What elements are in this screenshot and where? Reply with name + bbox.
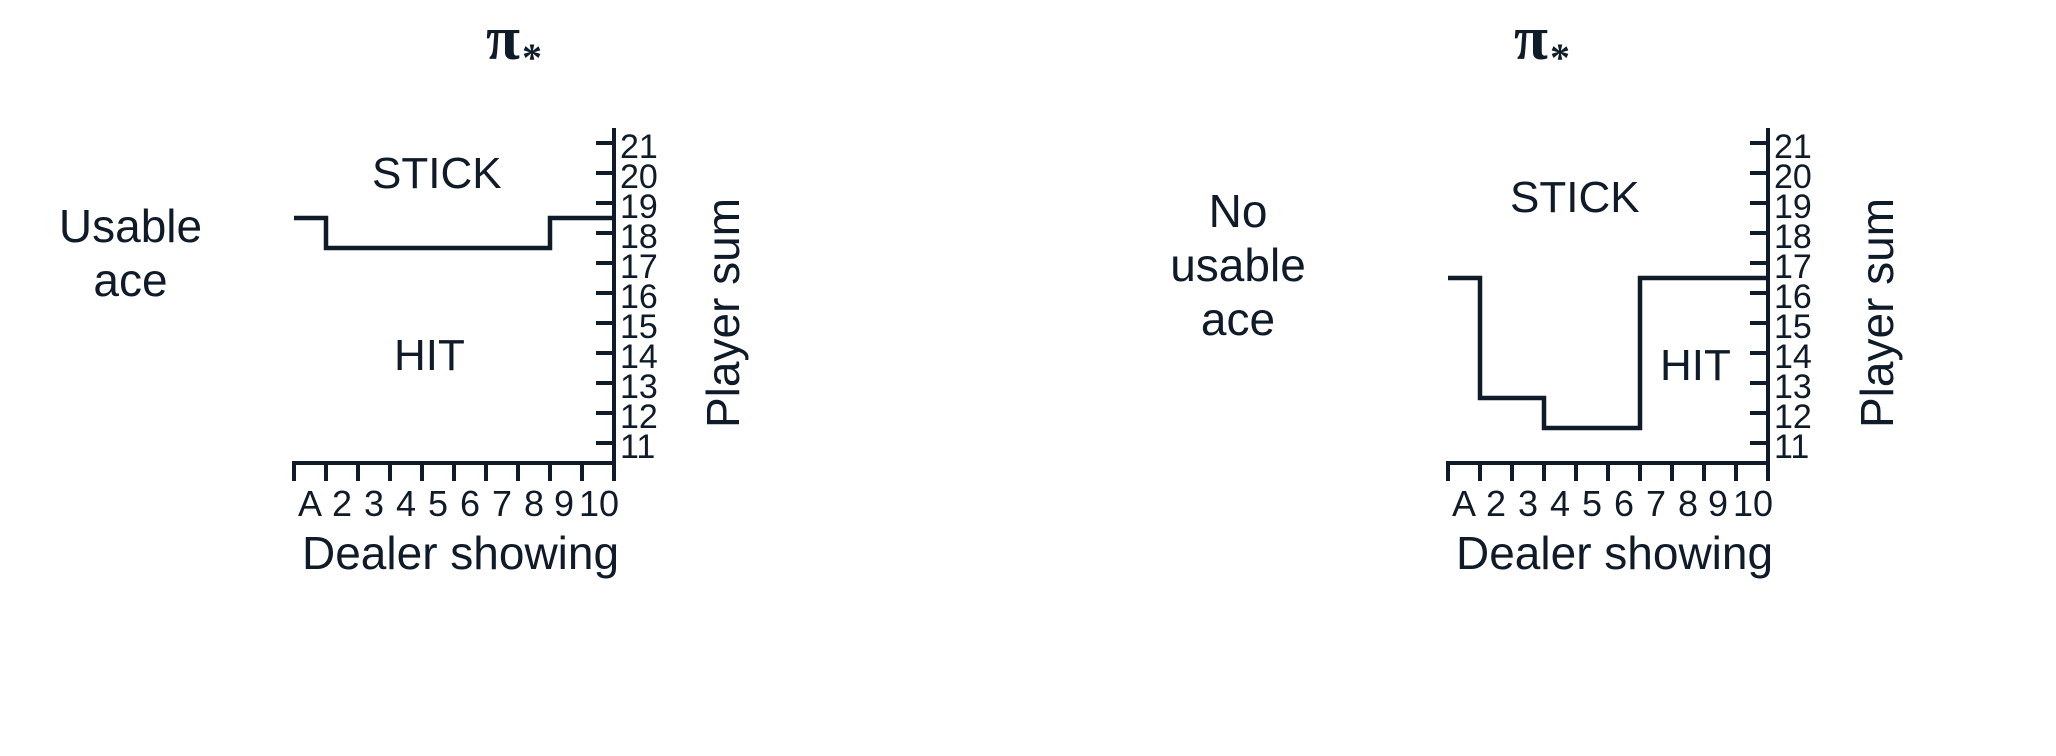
y-axis-title: Player sum (1854, 198, 1900, 428)
region-label-hit: HIT (394, 334, 465, 378)
x-tick-marks (294, 463, 614, 481)
blackjack-optimal-policy-figure: π* Usable ace (0, 0, 2056, 756)
x-axis-title: Dealer showing (1456, 530, 1773, 576)
y-tick-label-21: 21 (620, 130, 658, 164)
plot-usable-ace: STICK HIT 11 12 13 14 15 16 17 18 19 20 … (284, 118, 704, 538)
panel-no-usable-ace: π* No usable ace (1028, 0, 2056, 756)
region-label-hit: HIT (1660, 344, 1731, 388)
x-tick-marks (1448, 463, 1768, 481)
x-axis-title: Dealer showing (302, 530, 619, 576)
pi-star-subscript: * (1550, 35, 1570, 80)
pi-star-subscript: * (522, 35, 542, 80)
y-tick-marks (596, 143, 614, 443)
panel-title-no-usable-ace: π* (1028, 8, 2056, 78)
panel-title-usable-ace: π* (0, 8, 1028, 78)
x-tick-label-10: 10 (1730, 486, 1776, 522)
pi-symbol: π (1514, 5, 1548, 73)
policy-boundary-line (294, 218, 614, 248)
y-tick-marks (1750, 143, 1768, 443)
y-tick-label-21: 21 (1774, 130, 1812, 164)
row-caption-no-usable-ace: No usable ace (1108, 185, 1368, 346)
region-label-stick: STICK (372, 152, 502, 196)
row-caption-usable-ace: Usable ace (8, 200, 253, 308)
plot-no-usable-ace: STICK HIT 11 12 13 14 15 16 17 18 19 20 … (1438, 118, 1858, 538)
y-axis-title: Player sum (700, 198, 746, 428)
x-tick-label-10: 10 (576, 486, 622, 522)
region-label-stick: STICK (1510, 176, 1640, 220)
panel-usable-ace: π* Usable ace (0, 0, 1028, 756)
pi-symbol: π (486, 5, 520, 73)
